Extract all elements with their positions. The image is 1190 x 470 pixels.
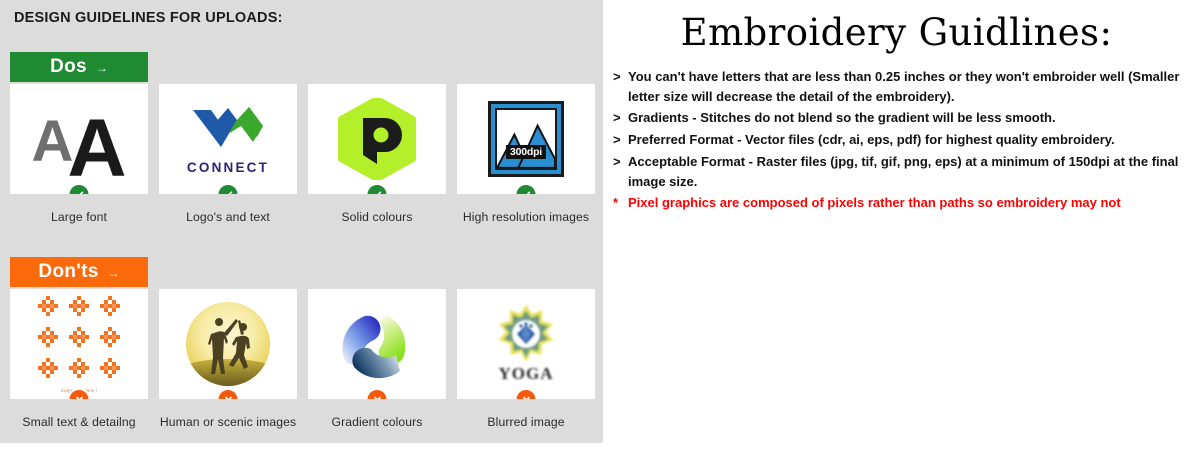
ornament-motif-icon <box>66 295 92 321</box>
photo-300dpi-art: 300dpi <box>457 84 595 194</box>
ornament-motif-icon <box>35 326 61 352</box>
large-font-aa-art: AA <box>10 84 148 194</box>
dos-banner: Dos → <box>10 52 148 82</box>
card-caption: Gradient colours <box>308 415 446 429</box>
ornament-motif-icon <box>66 326 92 352</box>
two-people-highfive-icon <box>186 302 270 386</box>
arrow-right-icon: → <box>108 266 120 280</box>
connect-chevron-icon <box>191 104 265 154</box>
card-caption: Human or scenic images <box>159 415 297 429</box>
donts-banner-label: Don'ts <box>38 261 98 283</box>
arrow-right-icon: → <box>96 61 108 75</box>
thumbnail: Congratulations ! <box>10 289 148 399</box>
card-caption: High resolution images <box>457 210 595 224</box>
dos-banner-label: Dos <box>50 56 87 78</box>
dos-card-large-font[interactable]: AA Large font <box>10 84 148 224</box>
ornament-motif-icon <box>97 326 123 352</box>
card-caption: Logo's and text <box>159 210 297 224</box>
dos-card-solid-colours[interactable]: Solid colours <box>308 84 446 224</box>
note-marker: > <box>613 152 625 172</box>
yoga-star-emblem-icon <box>495 304 557 366</box>
thumbnail <box>159 289 297 399</box>
gradient-swirl-icon <box>334 301 420 387</box>
dpi-tag: 300dpi <box>506 145 546 159</box>
yoga-wordmark: YOGA <box>499 364 554 384</box>
connect-logo-art: CONNECT <box>159 84 297 194</box>
note-text: Gradients - Stitches do not blend so the… <box>628 108 1182 128</box>
dos-card-logos-and-text[interactable]: CONNECT Logo's and text <box>159 84 297 224</box>
thumbnail: YOGA <box>457 289 595 399</box>
note-text: Acceptable Format - Raster files (jpg, t… <box>628 152 1182 192</box>
donts-banner: Don'ts → <box>10 257 148 287</box>
thumbnail <box>308 84 446 194</box>
design-guidelines-panel: DESIGN GUIDELINES FOR UPLOADS: Dos → AA … <box>0 0 603 443</box>
thumbnail <box>308 289 446 399</box>
donts-card-small-text[interactable]: Congratulations ! Small text & detailng <box>10 289 148 429</box>
thumbnail: AA <box>10 84 148 194</box>
embroidery-note: > Gradients - Stitches do not blend so t… <box>613 108 1182 128</box>
embroidery-note-list: > You can't have letters that are less t… <box>603 67 1190 213</box>
ornament-motif-icon <box>35 357 61 383</box>
mountain-photo-icon: 300dpi <box>495 108 557 170</box>
page-title: DESIGN GUIDELINES FOR UPLOADS: <box>14 10 283 26</box>
letter-a-large: A <box>67 108 126 190</box>
hexagon-icon <box>337 98 417 180</box>
note-marker: > <box>613 67 625 87</box>
dos-card-high-resolution[interactable]: 300dpi High resolution images <box>457 84 595 224</box>
embroidery-note: > Preferred Format - Vector files (cdr, … <box>613 130 1182 150</box>
ornament-motif-icon <box>97 357 123 383</box>
note-text: Pixel graphics are composed of pixels ra… <box>628 193 1182 213</box>
hexagon-p-logo-art <box>308 84 446 194</box>
card-caption: Solid colours <box>308 210 446 224</box>
note-text: Preferred Format - Vector files (cdr, ai… <box>628 130 1182 150</box>
ornament-motif-icon <box>66 357 92 383</box>
embroidery-title: Embroidery Guidlines: <box>603 14 1190 53</box>
note-marker: * <box>613 193 625 213</box>
note-marker: > <box>613 130 625 150</box>
thumbnail: CONNECT <box>159 84 297 194</box>
embroidery-note-warning: * Pixel graphics are composed of pixels … <box>613 193 1182 213</box>
ornament-grid <box>35 295 123 383</box>
ornament-motif-icon <box>97 295 123 321</box>
letter-a-small: A <box>31 113 67 171</box>
embroidery-note: > You can't have letters that are less t… <box>613 67 1182 107</box>
embroidery-guidelines-panel: Embroidery Guidlines: > You can't have l… <box>603 0 1190 470</box>
note-marker: > <box>613 108 625 128</box>
card-caption: Small text & detailng <box>10 415 148 429</box>
gradient-swirl-logo-art <box>308 289 446 399</box>
card-caption: Blurred image <box>457 415 595 429</box>
image-frame-inner: 300dpi <box>491 104 561 174</box>
connect-wordmark: CONNECT <box>187 160 269 175</box>
blurred-yoga-logo-art: YOGA <box>457 289 595 399</box>
card-caption: Large font <box>10 210 148 224</box>
ornament-pattern-art: Congratulations ! <box>10 289 148 399</box>
note-text: You can't have letters that are less tha… <box>628 67 1182 107</box>
donts-card-blurred-image[interactable]: YOGA Blurred image <box>457 289 595 429</box>
image-frame: 300dpi <box>488 101 564 177</box>
thumbnail: 300dpi <box>457 84 595 194</box>
ornament-motif-icon <box>35 295 61 321</box>
donts-card-gradient-colours[interactable]: Gradient colours <box>308 289 446 429</box>
embroidery-note: > Acceptable Format - Raster files (jpg,… <box>613 152 1182 192</box>
human-scenic-photo-art <box>159 289 297 399</box>
donts-card-human-scenic[interactable]: Human or scenic images <box>159 289 297 429</box>
scenic-photo-circle <box>186 302 270 386</box>
